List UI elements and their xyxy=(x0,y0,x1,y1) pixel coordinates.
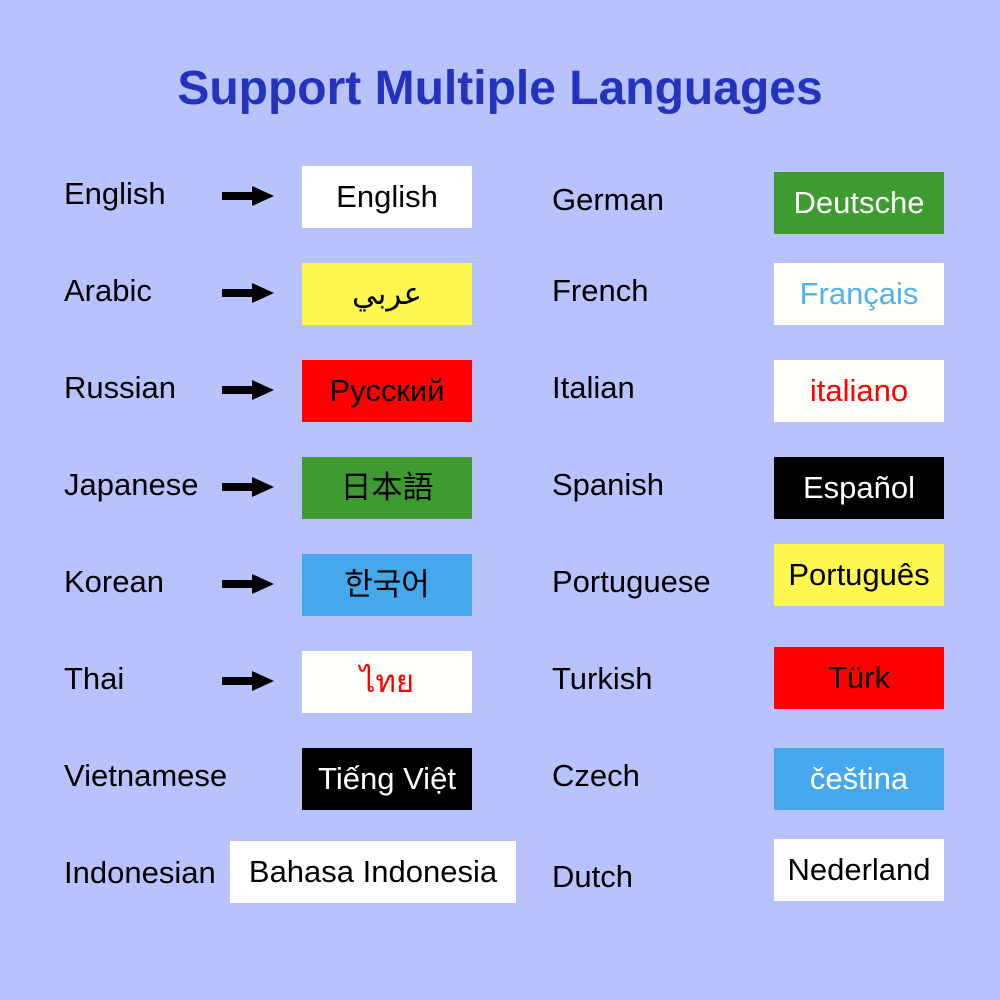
native-language-chip: English xyxy=(302,166,472,228)
language-name-label: English xyxy=(64,160,166,228)
right-arrow-icon xyxy=(222,671,274,691)
language-name-label: Portuguese xyxy=(552,548,711,616)
language-column-right: GermanDeutscheFrenchFrançaisItalianitali… xyxy=(520,160,1000,936)
language-name-label: Indonesian xyxy=(64,839,216,907)
language-name-label: Spanish xyxy=(552,451,664,519)
native-language-chip: Bahasa Indonesia xyxy=(230,841,516,903)
native-language-chip: Türk xyxy=(774,647,944,709)
language-name-label: Thai xyxy=(64,645,124,713)
language-row: IndonesianBahasa Indonesia xyxy=(0,839,520,936)
language-row: Japanese日本語 xyxy=(0,451,520,548)
language-row: TurkishTürk xyxy=(520,645,1000,742)
language-row: Arabicعربي xyxy=(0,257,520,354)
native-language-chip: Português xyxy=(774,544,944,606)
language-name-label: Italian xyxy=(552,354,635,422)
language-row: EnglishEnglish xyxy=(0,160,520,257)
language-row: Thaiไทย xyxy=(0,645,520,742)
native-language-chip: čeština xyxy=(774,748,944,810)
native-language-chip: Deutsche xyxy=(774,172,944,234)
native-language-chip: 한국어 xyxy=(302,554,472,616)
native-language-chip: Русский xyxy=(302,360,472,422)
language-row: GermanDeutsche xyxy=(520,160,1000,257)
native-language-chip: Nederland xyxy=(774,839,944,901)
language-row: VietnameseTiếng Việt xyxy=(0,742,520,839)
native-language-chip: italiano xyxy=(774,360,944,422)
right-arrow-icon xyxy=(222,186,274,206)
page-title: Support Multiple Languages xyxy=(0,60,1000,118)
language-name-label: Russian xyxy=(64,354,176,422)
native-language-chip: Español xyxy=(774,457,944,519)
right-arrow-icon xyxy=(222,380,274,400)
language-row: DutchNederland xyxy=(520,839,1000,936)
language-name-label: Dutch xyxy=(552,843,633,911)
native-language-chip: 日本語 xyxy=(302,457,472,519)
language-row: RussianРусский xyxy=(0,354,520,451)
right-arrow-icon xyxy=(222,574,274,594)
native-language-chip: ไทย xyxy=(302,651,472,713)
native-language-chip: عربي xyxy=(302,263,472,325)
right-arrow-icon xyxy=(222,283,274,303)
language-name-label: Japanese xyxy=(64,451,198,519)
native-language-chip: Français xyxy=(774,263,944,325)
language-name-label: Arabic xyxy=(64,257,152,325)
slide-canvas: Support Multiple Languages EnglishEnglis… xyxy=(0,0,1000,1000)
right-arrow-icon xyxy=(222,477,274,497)
language-column-left: EnglishEnglishArabicعربيRussianРусскийJa… xyxy=(0,160,520,936)
language-name-label: Vietnamese xyxy=(64,742,227,810)
language-name-label: French xyxy=(552,257,648,325)
language-row: PortuguesePortuguês xyxy=(520,548,1000,645)
language-row: Czechčeština xyxy=(520,742,1000,839)
language-row: Italianitaliano xyxy=(520,354,1000,451)
native-language-chip: Tiếng Việt xyxy=(302,748,472,810)
language-name-label: Czech xyxy=(552,742,640,810)
language-row: SpanishEspañol xyxy=(520,451,1000,548)
language-name-label: Turkish xyxy=(552,645,652,713)
language-row: FrenchFrançais xyxy=(520,257,1000,354)
language-row: Korean한국어 xyxy=(0,548,520,645)
language-name-label: Korean xyxy=(64,548,164,616)
language-name-label: German xyxy=(552,166,664,234)
